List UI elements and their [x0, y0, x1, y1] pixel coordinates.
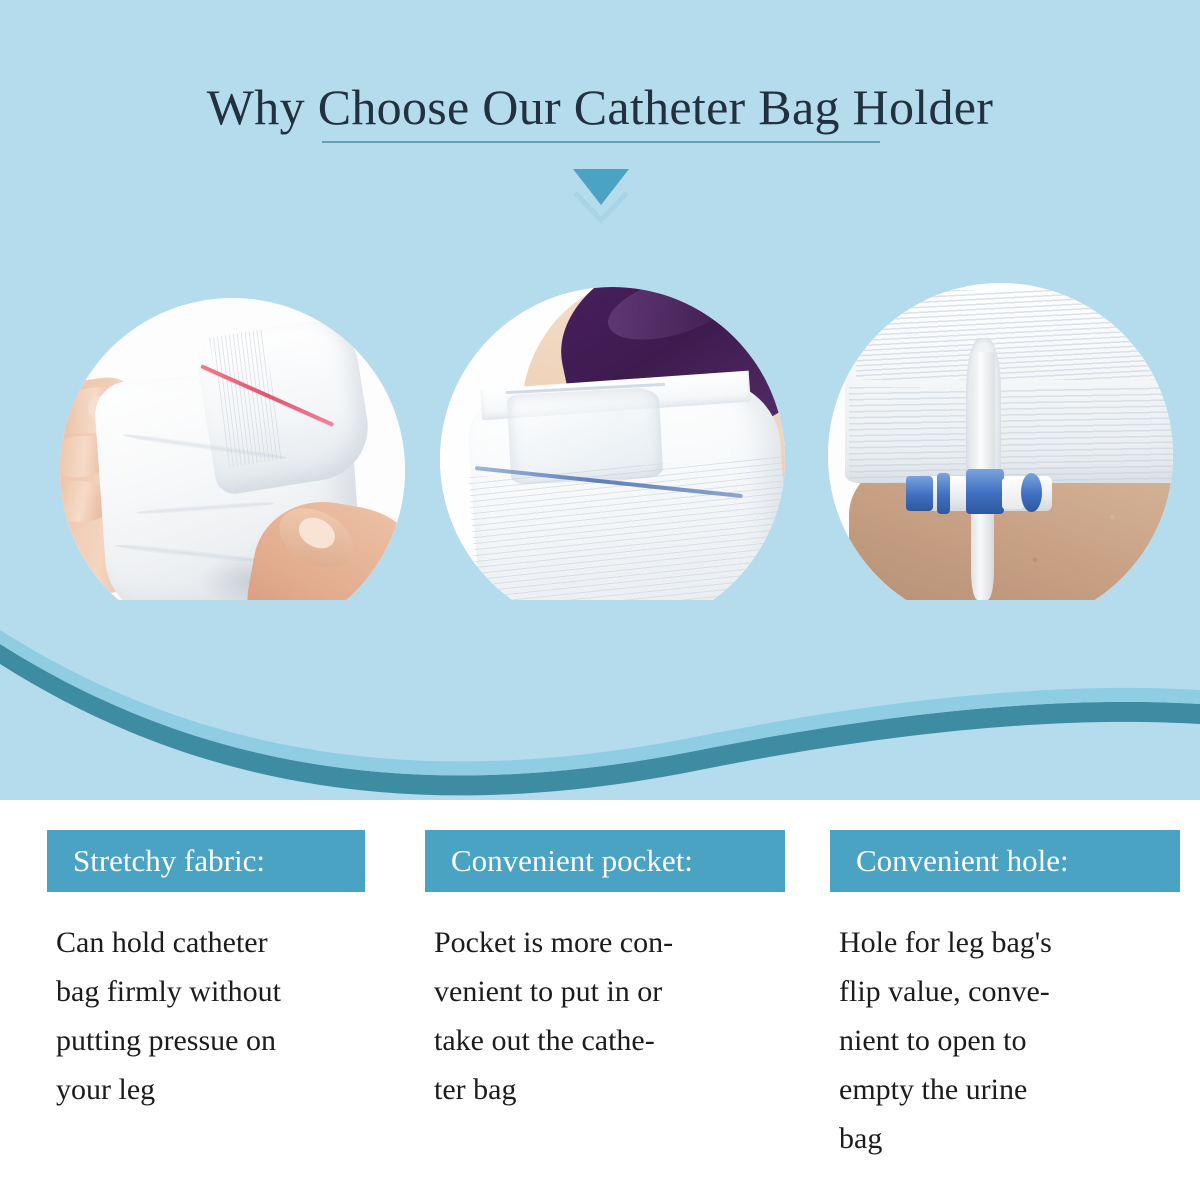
feature-description-line: bag	[839, 1114, 1182, 1163]
chevron-down-icon	[567, 165, 635, 225]
feature-description: Pocket is more con- venient to put in or…	[425, 918, 787, 1114]
feature-description-line: Hole for leg bag's	[839, 918, 1182, 967]
title-underline-rule	[322, 141, 880, 143]
feature-description-line: bag firmly without	[56, 967, 387, 1016]
feature-description-line: ter bag	[434, 1065, 787, 1114]
feature-description-line: putting pressue on	[56, 1016, 387, 1065]
feature-title-label: Stretchy fabric:	[73, 844, 265, 878]
feature-description-line: take out the cathe-	[434, 1016, 787, 1065]
feature-description-line: flip value, conve-	[839, 967, 1182, 1016]
page-title: Why Choose Our Catheter Bag Holder	[0, 76, 1200, 138]
feature-description: Can hold catheter bag firmly without put…	[47, 918, 387, 1114]
wave-divider	[0, 600, 1200, 800]
feature-column-convenient-hole: Convenient hole: Hole for leg bag's flip…	[830, 800, 1182, 1163]
photo-pocket-on-leg	[440, 287, 785, 632]
feature-description-line: nient to open to	[839, 1016, 1182, 1065]
feature-title-banner: Stretchy fabric:	[47, 830, 365, 892]
feature-title-banner: Convenient hole:	[830, 830, 1180, 892]
feature-description-line: your leg	[56, 1065, 387, 1114]
feature-column-convenient-pocket: Convenient pocket: Pocket is more con- v…	[425, 800, 787, 1114]
photo-valve-hole	[828, 283, 1173, 628]
feature-description: Hole for leg bag's flip value, conve- ni…	[830, 918, 1182, 1163]
feature-title-label: Convenient hole:	[856, 844, 1069, 878]
hero-panel: Why Choose Our Catheter Bag Holder	[0, 0, 1200, 800]
features-section: Stretchy fabric: Can hold catheter bag f…	[0, 800, 1200, 1200]
feature-title-banner: Convenient pocket:	[425, 830, 785, 892]
feature-description-line: empty the urine	[839, 1065, 1182, 1114]
photo-stretchy-fabric	[60, 298, 405, 643]
feature-description-line: Pocket is more con-	[434, 918, 787, 967]
feature-description-line: venient to put in or	[434, 967, 787, 1016]
feature-title-label: Convenient pocket:	[451, 844, 693, 878]
feature-column-stretchy-fabric: Stretchy fabric: Can hold catheter bag f…	[47, 800, 387, 1114]
feature-description-line: Can hold catheter	[56, 918, 387, 967]
